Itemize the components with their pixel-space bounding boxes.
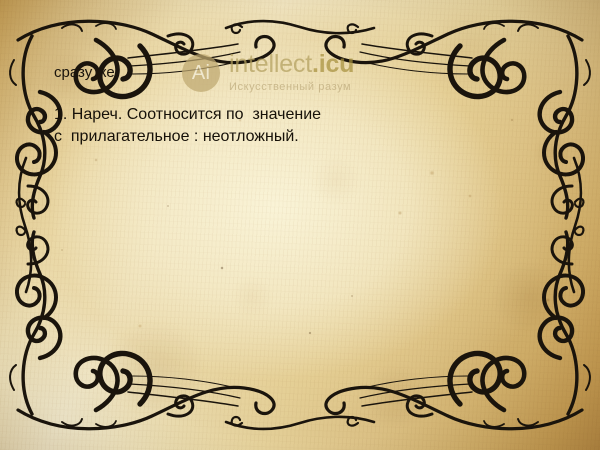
edge-scroll-left	[17, 158, 32, 292]
entry-headword: сразу же	[54, 64, 484, 82]
corner-flourish-bottom-right	[326, 232, 590, 429]
edge-scroll-right	[569, 158, 584, 292]
definition-line: с прилагательное : неотложный.	[54, 126, 484, 148]
definition-line: 1. Нареч. Соотносится по значение	[54, 104, 484, 126]
corner-flourish-bottom-left	[10, 232, 274, 429]
edge-scroll-top	[226, 21, 374, 33]
parchment-page: Ai intellect.icu Искусственный разум сра…	[0, 0, 600, 450]
dictionary-entry: сразу же 1. Нареч. Соотносится по значен…	[54, 64, 484, 147]
edge-scroll-bottom	[226, 417, 374, 429]
entry-definition: 1. Нареч. Соотносится по значение с прил…	[54, 104, 484, 147]
